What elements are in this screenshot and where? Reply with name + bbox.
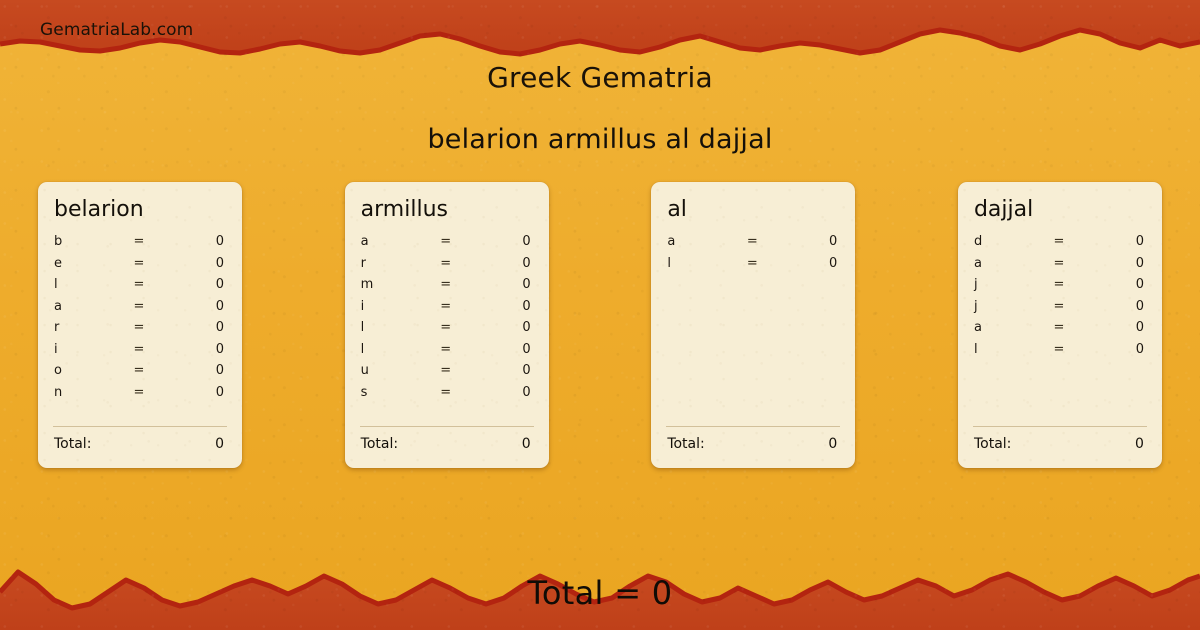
letter-row: u = 0 [359, 363, 535, 385]
letter-char: r [359, 256, 431, 271]
letter-char: d [972, 234, 1044, 249]
word-card-list: belarion b = 0 e = 0 l = 0 a [38, 182, 1162, 470]
letter-row: i = 0 [359, 299, 535, 321]
page-subtitle: belarion armillus al dajjal [0, 124, 1200, 155]
letter-row: m = 0 [359, 277, 535, 299]
letter-value: 0 [1074, 277, 1148, 292]
card-total-row: Total: 0 [359, 436, 535, 468]
card-total-label: Total: [52, 436, 91, 452]
letter-char: m [359, 277, 431, 292]
card-word-heading: dajjal [974, 198, 1148, 222]
equals-sign: = [1044, 256, 1074, 271]
letter-row: l = 0 [359, 320, 535, 342]
card-divider [973, 426, 1147, 427]
letter-row: d = 0 [972, 234, 1148, 256]
equals-sign: = [124, 385, 154, 400]
letter-char: u [359, 363, 431, 378]
letter-row: a = 0 [52, 299, 228, 321]
equals-sign: = [737, 256, 767, 271]
card-total-value: 0 [705, 436, 842, 452]
letter-char: a [665, 234, 737, 249]
equals-sign: = [431, 299, 461, 314]
equals-sign: = [431, 277, 461, 292]
letter-value: 0 [461, 234, 535, 249]
word-card: armillus a = 0 r = 0 m = 0 i [345, 182, 549, 468]
letter-char: a [52, 299, 124, 314]
equals-sign: = [431, 234, 461, 249]
letter-value: 0 [1074, 234, 1148, 249]
letter-row: n = 0 [52, 385, 228, 407]
letter-row: e = 0 [52, 256, 228, 278]
letter-char: e [52, 256, 124, 271]
equals-sign: = [737, 234, 767, 249]
site-logo[interactable]: GematriaLab.com [40, 20, 193, 40]
card-total-label: Total: [665, 436, 704, 452]
letter-char: j [972, 299, 1044, 314]
letter-char: o [52, 363, 124, 378]
letter-row: l = 0 [52, 277, 228, 299]
letter-row-list: d = 0 a = 0 j = 0 j = 0 [972, 234, 1148, 426]
letter-char: j [972, 277, 1044, 292]
letter-char: l [359, 320, 431, 335]
letter-char: l [665, 256, 737, 271]
letter-row-list: a = 0 r = 0 m = 0 i = 0 [359, 234, 535, 426]
card-total-value: 0 [91, 436, 228, 452]
card-word-heading: belarion [54, 198, 228, 222]
letter-row: l = 0 [359, 342, 535, 364]
equals-sign: = [1044, 234, 1074, 249]
letter-value: 0 [154, 363, 228, 378]
grand-total: Total = 0 [0, 574, 1200, 612]
letter-value: 0 [461, 299, 535, 314]
letter-char: s [359, 385, 431, 400]
letter-value: 0 [767, 234, 841, 249]
letter-value: 0 [154, 385, 228, 400]
letter-row: j = 0 [972, 299, 1148, 321]
letter-value: 0 [767, 256, 841, 271]
equals-sign: = [1044, 299, 1074, 314]
equals-sign: = [124, 299, 154, 314]
letter-char: i [52, 342, 124, 357]
card-word-heading: armillus [361, 198, 535, 222]
letter-char: n [52, 385, 124, 400]
letter-value: 0 [154, 320, 228, 335]
letter-char: r [52, 320, 124, 335]
card-total-row: Total: 0 [972, 436, 1148, 468]
letter-row: a = 0 [972, 320, 1148, 342]
letter-row: a = 0 [665, 234, 841, 256]
word-card: al a = 0 l = 0 Total: 0 [651, 182, 855, 468]
letter-row-list: a = 0 l = 0 [665, 234, 841, 426]
page-content: GematriaLab.com Greek Gematria belarion … [0, 0, 1200, 630]
letter-row: o = 0 [52, 363, 228, 385]
letter-value: 0 [154, 299, 228, 314]
letter-char: l [972, 342, 1044, 357]
letter-char: a [972, 320, 1044, 335]
letter-row: a = 0 [972, 256, 1148, 278]
card-word-heading: al [667, 198, 841, 222]
word-card: dajjal d = 0 a = 0 j = 0 j [958, 182, 1162, 468]
equals-sign: = [124, 320, 154, 335]
letter-value: 0 [154, 277, 228, 292]
letter-row: a = 0 [359, 234, 535, 256]
equals-sign: = [124, 342, 154, 357]
letter-value: 0 [461, 363, 535, 378]
card-total-label: Total: [972, 436, 1011, 452]
equals-sign: = [431, 320, 461, 335]
card-divider [360, 426, 534, 427]
letter-char: a [972, 256, 1044, 271]
equals-sign: = [1044, 277, 1074, 292]
equals-sign: = [124, 234, 154, 249]
card-divider [53, 426, 227, 427]
letter-row: s = 0 [359, 385, 535, 407]
word-card: belarion b = 0 e = 0 l = 0 a [38, 182, 242, 468]
letter-char: a [359, 234, 431, 249]
letter-row: l = 0 [665, 256, 841, 278]
letter-value: 0 [1074, 256, 1148, 271]
letter-value: 0 [154, 256, 228, 271]
letter-row: r = 0 [52, 320, 228, 342]
equals-sign: = [431, 385, 461, 400]
letter-char: l [52, 277, 124, 292]
equals-sign: = [431, 256, 461, 271]
equals-sign: = [431, 342, 461, 357]
card-total-label: Total: [359, 436, 398, 452]
letter-value: 0 [461, 320, 535, 335]
card-total-value: 0 [398, 436, 535, 452]
equals-sign: = [1044, 320, 1074, 335]
letter-row: b = 0 [52, 234, 228, 256]
letter-char: b [52, 234, 124, 249]
card-divider [666, 426, 840, 427]
equals-sign: = [124, 277, 154, 292]
letter-row-list: b = 0 e = 0 l = 0 a = 0 [52, 234, 228, 426]
letter-value: 0 [461, 342, 535, 357]
letter-row: i = 0 [52, 342, 228, 364]
letter-value: 0 [1074, 342, 1148, 357]
equals-sign: = [431, 363, 461, 378]
letter-row: r = 0 [359, 256, 535, 278]
card-total-row: Total: 0 [52, 436, 228, 468]
equals-sign: = [124, 256, 154, 271]
letter-value: 0 [461, 256, 535, 271]
equals-sign: = [1044, 342, 1074, 357]
letter-value: 0 [461, 385, 535, 400]
letter-char: l [359, 342, 431, 357]
letter-row: l = 0 [972, 342, 1148, 364]
letter-value: 0 [461, 277, 535, 292]
card-total-value: 0 [1011, 436, 1148, 452]
card-total-row: Total: 0 [665, 436, 841, 468]
page-title: Greek Gematria [0, 61, 1200, 94]
letter-value: 0 [1074, 299, 1148, 314]
letter-value: 0 [154, 342, 228, 357]
letter-value: 0 [154, 234, 228, 249]
letter-char: i [359, 299, 431, 314]
letter-row: j = 0 [972, 277, 1148, 299]
letter-value: 0 [1074, 320, 1148, 335]
equals-sign: = [124, 363, 154, 378]
